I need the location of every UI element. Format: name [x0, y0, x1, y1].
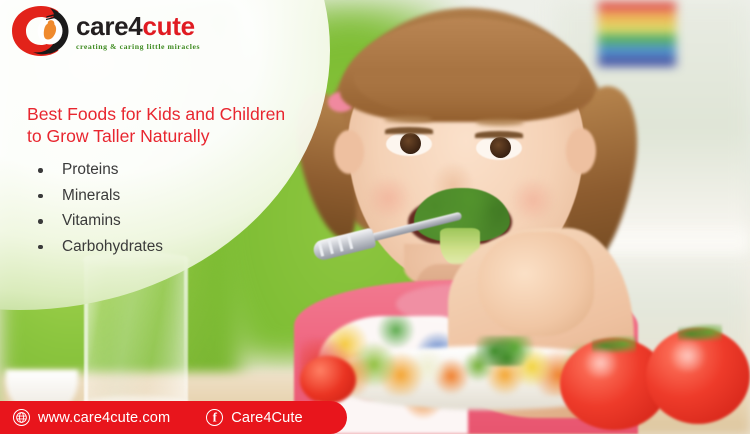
eyelash-right	[475, 131, 523, 138]
logo-name: care4cute	[76, 13, 200, 39]
eyebrow-right	[476, 119, 524, 126]
tomato-highlight-back	[666, 340, 710, 372]
care4cute-article-banner: care4cute creating & caring little mirac…	[0, 0, 750, 434]
contact-footer-bar: www.care4cute.com f Care4Cute	[0, 401, 347, 434]
nutrient-list: Proteins Minerals Vitamins Carbohydrates	[34, 157, 314, 259]
headline-line-2: to Grow Taller Naturally	[27, 125, 327, 147]
list-item: Minerals	[34, 183, 314, 209]
hand	[478, 232, 594, 336]
logo[interactable]: care4cute creating & caring little mirac…	[10, 4, 236, 60]
facebook-label: Care4Cute	[231, 410, 302, 426]
logo-name-dark: care4	[76, 11, 142, 41]
parsley-garnish	[476, 336, 538, 366]
website-label: www.care4cute.com	[38, 410, 170, 426]
ear-right	[566, 128, 596, 174]
facebook-link[interactable]: f Care4Cute	[206, 409, 302, 426]
list-item: Proteins	[34, 157, 314, 183]
list-item: Carbohydrates	[34, 234, 314, 260]
list-item: Vitamins	[34, 208, 314, 234]
headline-line-1: Best Foods for Kids and Children	[27, 103, 327, 125]
iris-right	[490, 137, 511, 158]
website-link[interactable]: www.care4cute.com	[13, 409, 170, 426]
care4cute-c-swoosh-logo-icon	[10, 4, 72, 58]
facebook-f-icon: f	[206, 409, 223, 426]
cheek-right	[508, 180, 558, 220]
tomato-highlight-front	[580, 348, 622, 378]
page-title: Best Foods for Kids and Children to Grow…	[27, 103, 327, 147]
logo-wordmark: care4cute creating & caring little mirac…	[76, 13, 200, 51]
globe-icon	[13, 409, 30, 426]
logo-tagline: creating & caring little miracles	[76, 42, 200, 51]
logo-name-red: cute	[142, 11, 194, 41]
